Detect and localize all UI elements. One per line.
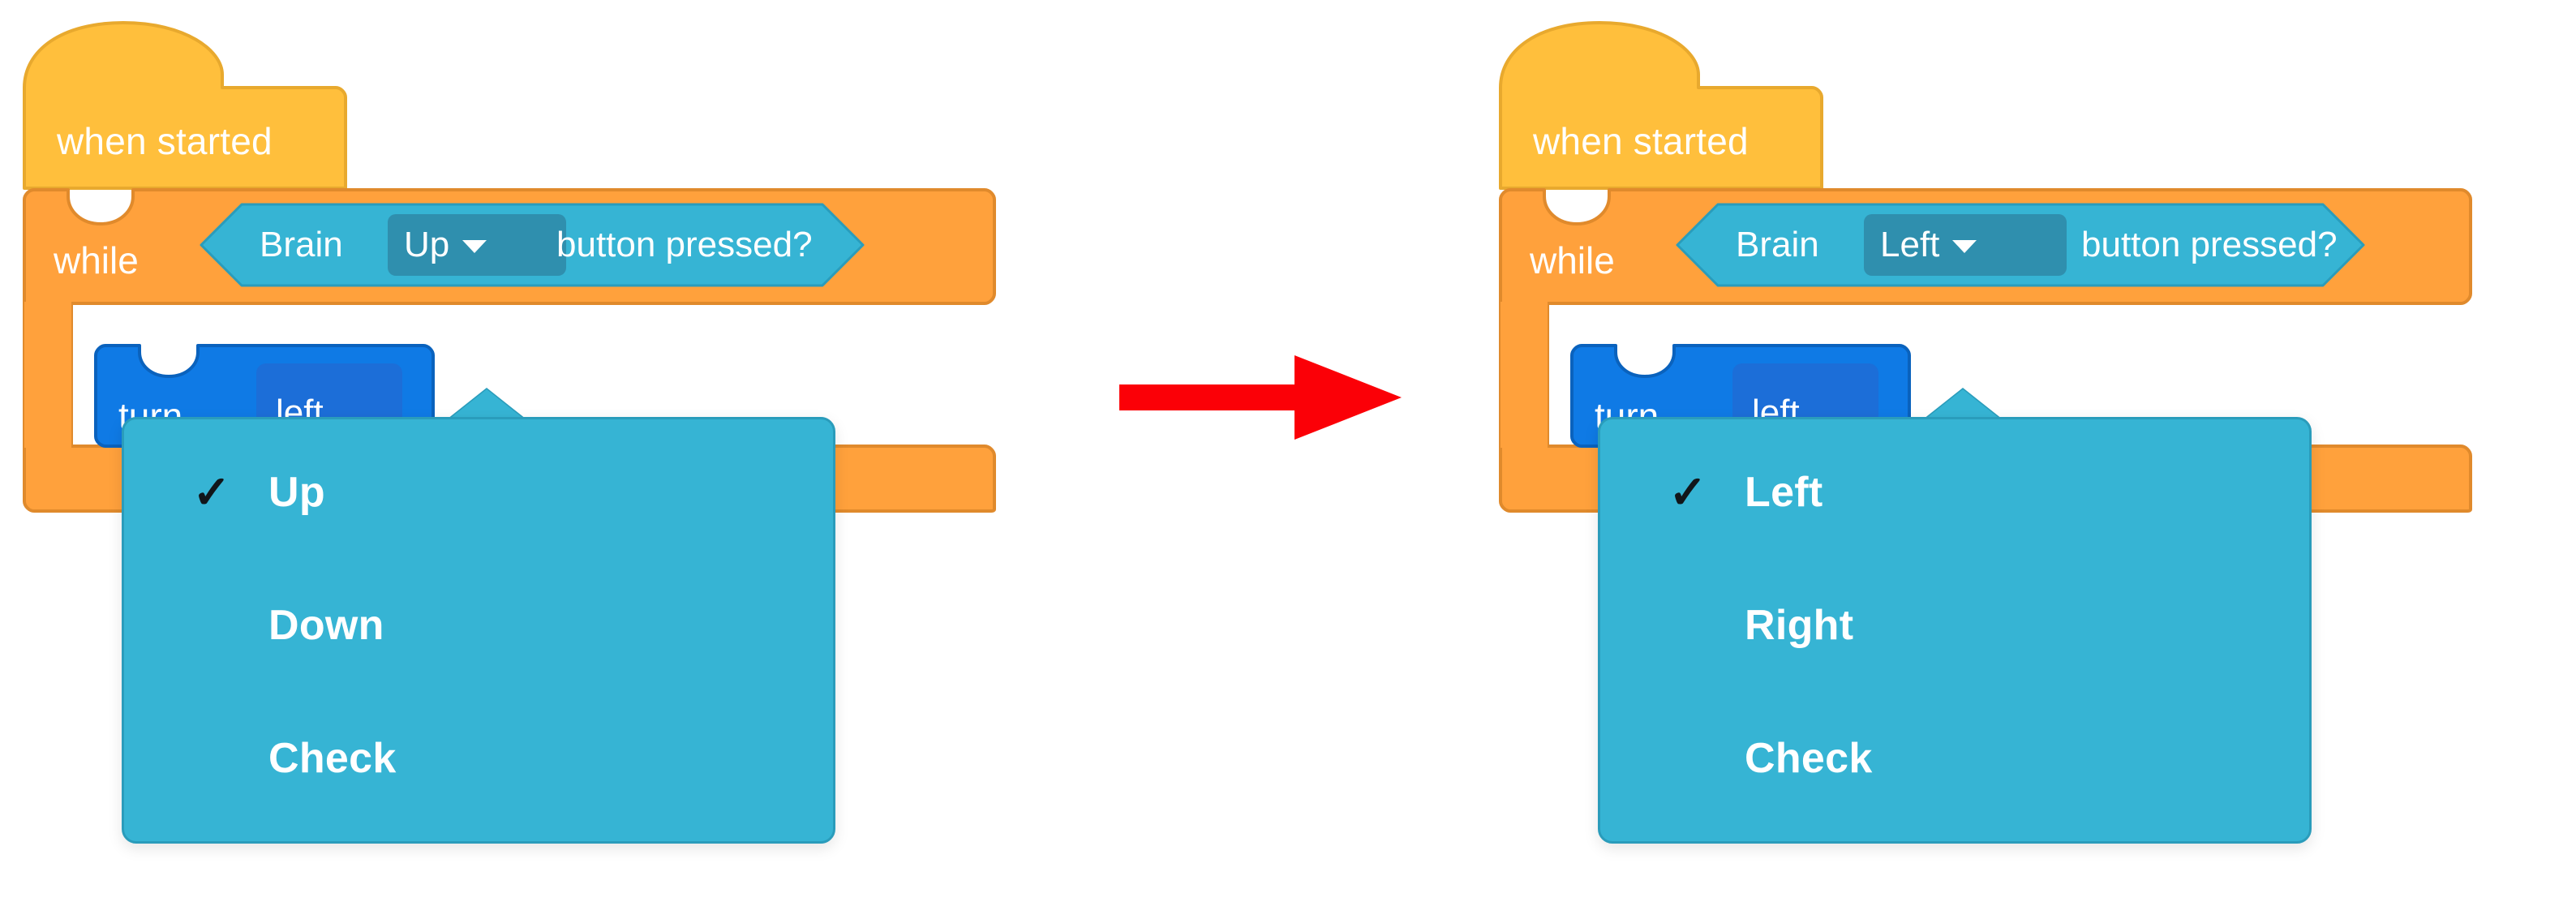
transition-arrow-icon	[1119, 349, 1403, 446]
dropdown-option-label: Right	[1745, 601, 1853, 650]
chevron-down-icon	[462, 240, 487, 253]
block-editor-comparison-stage: when started while Brain Up	[0, 0, 2576, 902]
panel-before: when started while Brain Up	[0, 0, 1152, 902]
chevron-down-icon	[1952, 240, 1977, 253]
button-dropdown-menu[interactable]: ✓ Up Down Check	[122, 389, 835, 844]
while-keyword-label: while	[1530, 238, 1615, 282]
when-started-hat-block[interactable]: when started	[1499, 18, 1823, 190]
button-pressed-suffix-label: button pressed?	[556, 203, 813, 287]
dropdown-option-label: Check	[268, 734, 397, 783]
dropdown-option[interactable]: Check	[124, 734, 838, 783]
dropdown-option-label: Check	[1745, 734, 1873, 783]
dropdown-option[interactable]: Right	[1600, 601, 2314, 650]
dropdown-option-label: Left	[1745, 468, 1823, 517]
brain-prefix-label: Brain	[260, 203, 343, 287]
dropdown-option[interactable]: ✓ Up	[124, 468, 838, 517]
button-dropdown-menu[interactable]: ✓ Left Right Check	[1598, 389, 2312, 844]
button-dropdown-field[interactable]: Left	[1864, 214, 2067, 276]
loop-arrow-icon	[921, 657, 973, 709]
brain-prefix-label: Brain	[1736, 203, 1819, 287]
dropdown-menu-body: ✓ Up Down Check	[122, 417, 835, 844]
panel-after: when started while Brain Left button pre…	[1476, 0, 2576, 902]
when-started-hat-block[interactable]: when started	[23, 18, 347, 190]
hat-block-label: when started	[57, 119, 273, 163]
button-dropdown-value: Left	[1880, 227, 1939, 263]
button-dropdown-value: Up	[404, 227, 449, 263]
checkmark-icon: ✓	[1664, 470, 1712, 515]
dropdown-option-label: Down	[268, 601, 384, 650]
dropdown-option[interactable]: Down	[124, 601, 838, 650]
dropdown-menu-body: ✓ Left Right Check	[1598, 417, 2312, 844]
dropdown-option[interactable]: Check	[1600, 734, 2314, 783]
dropdown-option[interactable]: ✓ Left	[1600, 468, 2314, 517]
while-keyword-label: while	[54, 238, 139, 282]
dropdown-option-label: Up	[268, 468, 325, 517]
brain-button-pressed-boolean[interactable]: Brain Left button pressed?	[1676, 203, 2365, 287]
button-pressed-suffix-label: button pressed?	[2081, 203, 2338, 287]
brain-button-pressed-boolean[interactable]: Brain Up button pressed?	[200, 203, 865, 287]
hat-block-label: when started	[1533, 119, 1749, 163]
loop-arrow-icon	[2398, 657, 2449, 709]
button-dropdown-field[interactable]: Up	[388, 214, 566, 276]
checkmark-icon: ✓	[187, 470, 236, 515]
